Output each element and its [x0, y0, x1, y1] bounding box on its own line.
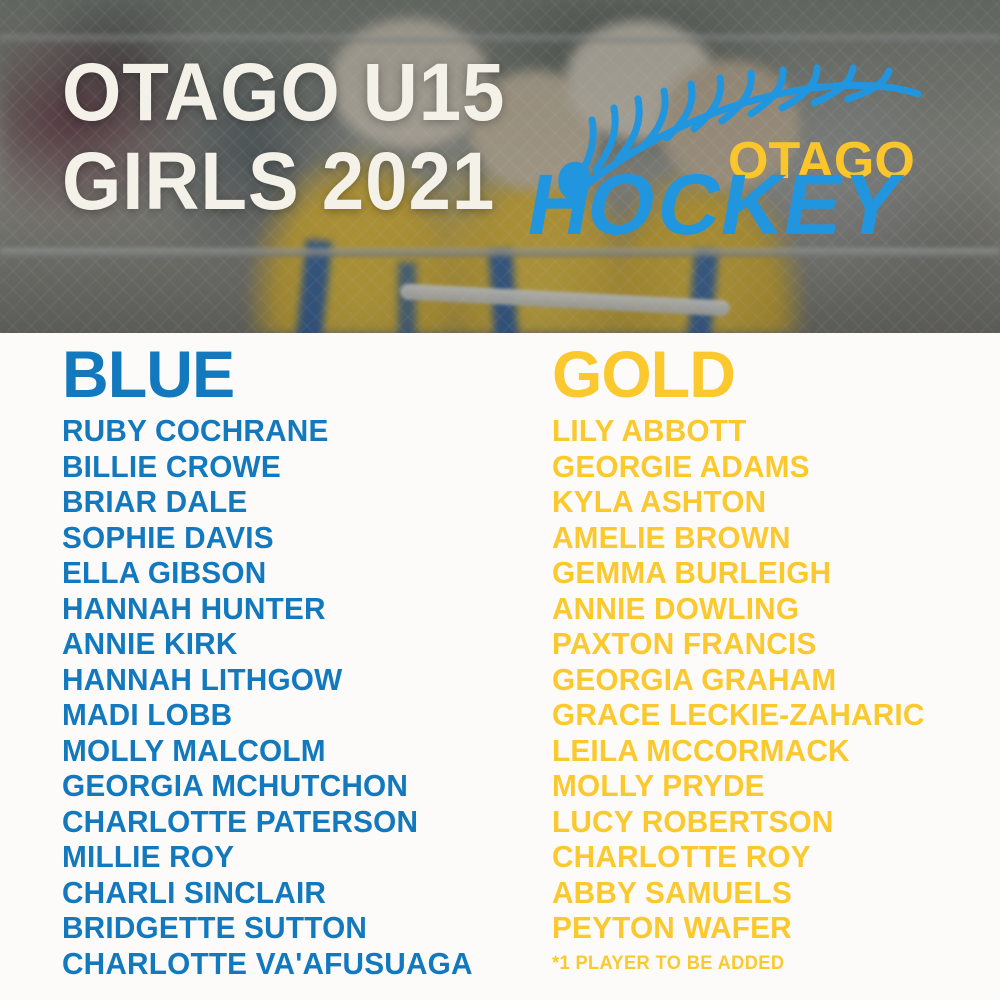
- list-item: GRACE LECKIE-ZAHARIC: [552, 697, 974, 733]
- team-heading-blue: BLUE: [62, 341, 532, 407]
- list-item: LUCY ROBERTSON: [552, 804, 974, 840]
- list-item: MOLLY PRYDE: [552, 768, 974, 804]
- team-announcement-poster: OTAGO U15 GIRLS 2021 OTAGO: [0, 0, 1000, 1000]
- list-item: SOPHIE DAVIS: [62, 520, 523, 556]
- list-item: LILY ABBOTT: [552, 413, 974, 449]
- list-item: CHARLOTTE ROY: [552, 839, 974, 875]
- list-item: MILLIE ROY: [62, 839, 523, 875]
- list-item: KYLA ASHTON: [552, 484, 974, 520]
- list-item: LEILA MCCORMACK: [552, 733, 974, 769]
- list-item: MOLLY MALCOLM: [62, 733, 523, 769]
- title-line-2: GIRLS 2021: [62, 143, 505, 222]
- list-item: GEORGIE ADAMS: [552, 449, 974, 485]
- team-column-blue: BLUE RUBY COCHRANE BILLIE CROWE BRIAR DA…: [62, 333, 542, 981]
- team-heading-gold: GOLD: [552, 341, 983, 407]
- list-item: ANNIE KIRK: [62, 626, 523, 662]
- list-item: RUBY COCHRANE: [62, 413, 523, 449]
- list-item: GEORGIA GRAHAM: [552, 662, 974, 698]
- list-item: GEMMA BURLEIGH: [552, 555, 974, 591]
- logo-word-hockey-ckey: CKEY: [650, 158, 910, 253]
- list-item: MADI LOBB: [62, 697, 523, 733]
- team-column-gold: GOLD LILY ABBOTT GEORGIE ADAMS KYLA ASHT…: [552, 333, 992, 977]
- list-item: AMELIE BROWN: [552, 520, 974, 556]
- list-item: ELLA GIBSON: [62, 555, 523, 591]
- list-item: CHARLOTTE VA'AFUSUAGA: [62, 946, 523, 982]
- team-roster: BLUE RUBY COCHRANE BILLIE CROWE BRIAR DA…: [0, 333, 1000, 1000]
- list-item: BRIDGETTE SUTTON: [62, 910, 523, 946]
- player-list-gold: LILY ABBOTT GEORGIE ADAMS KYLA ASHTON AM…: [552, 413, 992, 946]
- list-item: HANNAH HUNTER: [62, 591, 523, 627]
- list-item: BRIAR DALE: [62, 484, 523, 520]
- list-item: HANNAH LITHGOW: [62, 662, 523, 698]
- list-item: PAXTON FRANCIS: [552, 626, 974, 662]
- title-line-1: OTAGO U15: [62, 54, 505, 133]
- roster-footnote: *1 PLAYER TO BE ADDED: [552, 951, 974, 977]
- poster-title: OTAGO U15 GIRLS 2021: [62, 54, 539, 221]
- player-list-blue: RUBY COCHRANE BILLIE CROWE BRIAR DALE SO…: [62, 413, 542, 981]
- list-item: ANNIE DOWLING: [552, 591, 974, 627]
- list-item: CHARLI SINCLAIR: [62, 875, 523, 911]
- list-item: GEORGIA MCHUTCHON: [62, 768, 523, 804]
- list-item: ABBY SAMUELS: [552, 875, 974, 911]
- list-item: BILLIE CROWE: [62, 449, 523, 485]
- list-item: PEYTON WAFER: [552, 910, 974, 946]
- list-item: CHARLOTTE PATERSON: [62, 804, 523, 840]
- otago-hockey-logo: OTAGO H O CKEY: [556, 62, 956, 237]
